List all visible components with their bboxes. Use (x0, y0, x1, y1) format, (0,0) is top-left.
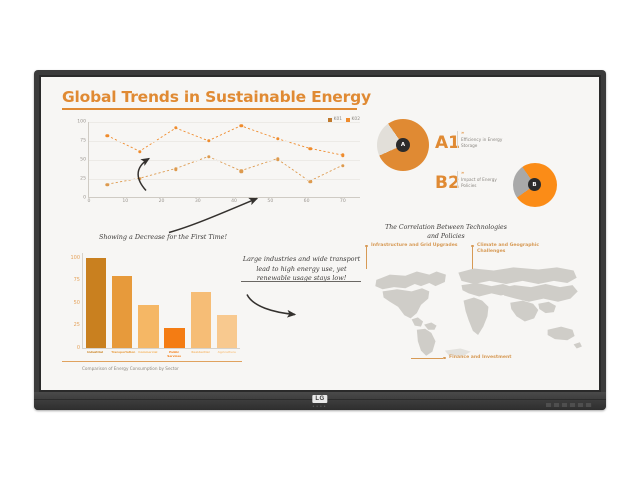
line-point-k02-2 (174, 167, 177, 170)
map-leader-climate (472, 247, 473, 269)
line-chart-y-tick: 75 (80, 139, 86, 144)
world-map-svg (367, 257, 585, 361)
bar-chart-bars (83, 253, 240, 348)
line-chart-x-tick: 0 (88, 199, 91, 204)
line-chart-x-tick: 20 (159, 199, 165, 204)
bar-chart-bar-wrapper[interactable] (138, 253, 158, 348)
line-chart: K01 K02 1007550250010203040506070 (62, 117, 362, 212)
pie-badge-a: A (396, 138, 410, 152)
bar-label-transportation: Transportation (111, 350, 132, 358)
line-chart-x-tick: 50 (267, 199, 273, 204)
line-chart-y-tick: 0 (83, 196, 86, 201)
arrow-to-map (247, 295, 295, 315)
line-point-k02-1 (138, 177, 141, 180)
line-chart-x-tick: 70 (340, 199, 346, 204)
line-point-k01-7 (341, 154, 344, 157)
bar-agriculture[interactable] (217, 315, 237, 348)
line-point-k02-6 (309, 180, 312, 183)
line-chart-gridline (89, 141, 360, 142)
line-chart-y-tick: 25 (80, 177, 86, 182)
map-leader-finance (411, 358, 443, 359)
bar-label-residential: Residential (190, 350, 211, 358)
map-label-finance: Finance and Investment (449, 355, 539, 361)
line-point-k01-3 (207, 139, 210, 142)
bar-chart-bar-wrapper[interactable] (191, 253, 211, 348)
page-title: Global Trends in Sustainable Energy (62, 88, 371, 106)
title-underline (62, 108, 357, 110)
map-dot-finance (443, 357, 446, 360)
kpi-donuts: A A1 ››› Efficiency in Energy Storage B … (371, 115, 586, 215)
annotation-industry-note: Large industries and wide transport lead… (239, 255, 364, 284)
line-point-k02-0 (105, 183, 108, 186)
bar-label-industrial: Industrial (85, 350, 106, 358)
line-chart-x-tick: 60 (304, 199, 310, 204)
line-point-k01-6 (309, 147, 312, 150)
bar-chart-y-tick: 0 (77, 345, 80, 351)
line-chart-gridline (89, 179, 360, 180)
map-leader-infrastructure (366, 247, 367, 269)
display-screen: Global Trends in Sustainable Energy K01 … (41, 77, 599, 390)
line-chart-gridline (89, 160, 360, 161)
chin-dots: •••• (312, 404, 327, 410)
kpi-description-a1: Efficiency in Energy Storage (461, 137, 502, 148)
bar-chart-y-tick: 50 (74, 300, 80, 306)
legend-swatch-k01 (328, 118, 332, 122)
chevrons-icon-a1: ››› (461, 131, 505, 137)
bar-chart-caption: Comparison of Energy Consumption by Sect… (82, 366, 179, 371)
lg-display-monitor: Global Trends in Sustainable Energy K01 … (34, 70, 606, 410)
bar-label-agriculture: Agriculture (217, 350, 238, 358)
bar-chart-y-tick: 75 (74, 277, 80, 283)
bar-chart-bar-wrapper[interactable] (164, 253, 184, 348)
bar-chart: 1007550250 IndustrialTransportationComme… (62, 249, 242, 371)
line-point-k01-4 (240, 124, 243, 127)
line-chart-gridline (89, 122, 360, 123)
bar-commercial[interactable] (138, 305, 158, 348)
bar-public-services[interactable] (164, 328, 184, 348)
legend-swatch-k02 (346, 118, 350, 122)
monitor-chin: LG •••• (34, 392, 606, 410)
line-chart-y-tick: 50 (80, 158, 86, 163)
bar-chart-plot-area: 1007550250 (82, 253, 240, 349)
lg-logo: LG (312, 395, 327, 403)
map-label-climate: Climate and Geographic Challenges (477, 243, 549, 255)
presentation-slide: Global Trends in Sustainable Energy K01 … (41, 77, 599, 390)
bar-label-public-services: Public Services (164, 350, 185, 358)
line-chart-plot-area: 1007550250010203040506070 (88, 122, 360, 198)
map-label-infrastructure: Infrastructure and Grid Upgrades (371, 243, 463, 249)
bar-chart-category-labels: IndustrialTransportationCommercialPublic… (82, 350, 240, 358)
bar-label-commercial: Commercial (138, 350, 159, 358)
pie-badge-b: B (528, 178, 541, 191)
kpi-text-b2: ››› Impact of Energy Policies (457, 171, 505, 188)
bar-residential[interactable] (191, 292, 211, 348)
bar-chart-bar-wrapper[interactable] (217, 253, 237, 348)
line-point-k01-1 (138, 150, 141, 153)
bar-industrial[interactable] (86, 258, 106, 348)
bar-chart-bar-wrapper[interactable] (86, 253, 106, 348)
bar-chart-rule (62, 361, 242, 362)
line-point-k02-4 (240, 170, 243, 173)
line-point-k02-3 (207, 155, 210, 158)
line-chart-y-tick: 100 (77, 120, 86, 125)
kpi-text-a1: ››› Efficiency in Energy Storage (457, 131, 505, 148)
line-chart-x-tick: 30 (195, 199, 201, 204)
line-point-k01-0 (105, 134, 108, 137)
bar-chart-y-tick: 25 (74, 322, 80, 328)
line-point-k01-2 (174, 126, 177, 129)
map-title: The Correlation Between Technologies and… (381, 223, 511, 241)
port-strip (546, 403, 592, 407)
bar-transportation[interactable] (112, 276, 132, 348)
line-point-k02-7 (341, 164, 344, 167)
world-map: Infrastructure and Grid Upgrades Climate… (359, 245, 587, 371)
line-chart-x-tick: 40 (231, 199, 237, 204)
chevrons-icon-b2: ››› (461, 171, 505, 177)
annotation-industry-underline (241, 281, 361, 282)
kpi-description-b2: Impact of Energy Policies (461, 177, 497, 188)
line-point-k01-5 (276, 137, 279, 140)
bar-chart-y-tick: 100 (70, 255, 80, 261)
screenshot-root: Global Trends in Sustainable Energy K01 … (0, 0, 640, 480)
annotation-decrease-note: Showing a Decrease for the First Time! (93, 233, 233, 242)
bar-chart-bar-wrapper[interactable] (112, 253, 132, 348)
line-chart-x-tick: 10 (122, 199, 128, 204)
